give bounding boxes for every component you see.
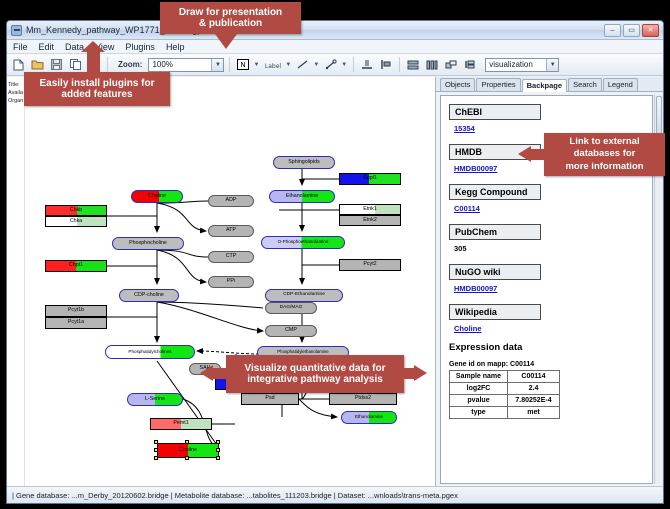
- visualization-value: visualization: [489, 60, 533, 69]
- node-label: Phosphatidylcholines: [128, 350, 171, 355]
- node-label: Sgpl1: [363, 176, 377, 181]
- chevron-down-icon[interactable]: ▼: [211, 59, 223, 71]
- callout-viz-arrow-right-head: [414, 365, 427, 381]
- node-label: Etnk1: [363, 207, 377, 212]
- visualization-combo[interactable]: visualization ▼: [485, 58, 559, 72]
- node-sgpl1[interactable]: Sgpl1: [339, 173, 401, 185]
- node-label: ATP: [226, 228, 236, 233]
- node-pcyt2[interactable]: Pcyt2: [339, 259, 401, 271]
- tab-legend[interactable]: Legend: [603, 78, 638, 91]
- maximize-button[interactable]: ▭: [623, 24, 640, 37]
- node-cdp-ethanolamine[interactable]: CDP-Ethanolamine: [265, 289, 343, 302]
- node-sphingolipids[interactable]: Sphingolipids: [273, 156, 335, 169]
- node-label: Choline: [179, 448, 197, 453]
- callout-draw-for-publication: Draw for presentation & publication: [160, 2, 301, 34]
- menu-item-file[interactable]: File: [11, 42, 30, 52]
- selection-handle-sw[interactable]: [154, 456, 158, 460]
- node-pemt1-lower[interactable]: Pemt1: [150, 418, 212, 430]
- node-phosphatidylcholines[interactable]: Phosphatidylcholines: [105, 345, 195, 359]
- node-phosphocholine[interactable]: Phosphocholine: [112, 237, 184, 250]
- tab-backpage[interactable]: Backpage: [522, 79, 567, 92]
- chevron-down-icon-line[interactable]: ▼: [313, 62, 319, 68]
- expr-key-pvalue: pvalue: [450, 395, 508, 407]
- tab-search[interactable]: Search: [568, 78, 602, 91]
- node-label: Etnk2: [363, 218, 377, 223]
- close-button[interactable]: ✕: [642, 24, 659, 37]
- tab-objects[interactable]: Objects: [440, 78, 475, 91]
- node-o-phosphoethanolamine[interactable]: O-Phosphoethanolamine: [261, 236, 345, 249]
- node-pcyt1b[interactable]: Pcyt1b: [45, 305, 107, 317]
- expr-value-type: met: [508, 407, 560, 419]
- node-ctp[interactable]: CTP: [208, 251, 254, 263]
- node-cdp-choline[interactable]: CDP-choline: [119, 289, 179, 302]
- table-row: type met: [450, 407, 560, 419]
- db-link-chebi[interactable]: 15354: [454, 124, 644, 133]
- db-link-wikipedia[interactable]: Choline: [454, 324, 644, 333]
- callout-line-1: Link to external: [569, 136, 639, 148]
- node-label: Pemt1: [173, 421, 188, 426]
- save-icon[interactable]: [48, 57, 64, 73]
- menu-item-help[interactable]: Help: [164, 42, 187, 52]
- toolbar-separator: [107, 57, 108, 72]
- callout-line-2: integrative pathway analysis: [247, 374, 383, 386]
- anchor-icon[interactable]: [323, 57, 339, 73]
- node-etnk2[interactable]: Etnk2: [339, 215, 401, 226]
- db-header-chebi: ChEBI: [449, 104, 541, 120]
- node-label: Ptdss2: [355, 396, 371, 401]
- node-label: Sphingolipids: [288, 160, 320, 165]
- datanode-icon[interactable]: N: [235, 57, 251, 73]
- db-header-nugo: NuGO wiki: [449, 264, 541, 280]
- expr-key-sample-name: Sample name: [450, 371, 508, 383]
- callout-visualize-quantitative-data: Visualize quantitative data for integrat…: [226, 355, 404, 393]
- app-icon: [11, 25, 22, 36]
- node-label: Ethanolamine: [355, 415, 383, 420]
- callout-line-3: more information: [565, 161, 643, 173]
- status-bar: | Gene database: ...m_Derby_20120602.bri…: [7, 486, 663, 503]
- callout-line-1: Easily install plugins for: [39, 78, 154, 90]
- selection-handle-se[interactable]: [216, 456, 220, 460]
- node-choline-top[interactable]: Choline: [131, 190, 183, 203]
- callout-line-2: added features: [61, 89, 132, 101]
- node-label: Phosphocholine: [129, 241, 167, 246]
- node-ethanolamine-bottom[interactable]: Ethanolamine: [341, 411, 397, 424]
- node-cmp[interactable]: CMP: [265, 325, 317, 337]
- tab-properties[interactable]: Properties: [476, 78, 520, 91]
- node-psd[interactable]: Psd: [241, 393, 299, 405]
- callout-viz-arrow-left-stem: [212, 368, 228, 379]
- table-row: pvalue 7.80252E-4: [450, 395, 560, 407]
- zoom-combo[interactable]: 100% ▼: [148, 58, 224, 72]
- window-buttons: – ▭ ✕: [604, 24, 659, 37]
- node-label: Psd: [265, 396, 274, 401]
- minimize-button[interactable]: –: [604, 24, 621, 37]
- toolbar-separator-3: [353, 57, 354, 72]
- node-ppi[interactable]: PPi: [208, 276, 254, 288]
- selection-handle-s[interactable]: [185, 456, 189, 460]
- node-chkb[interactable]: Chkb: [45, 205, 107, 216]
- db-header-kegg: Kegg Compound: [449, 184, 541, 200]
- expr-value-pvalue: 7.80252E-4: [508, 395, 560, 407]
- open-folder-icon[interactable]: [29, 57, 45, 73]
- db-link-nugo[interactable]: HMDB00097: [454, 284, 644, 293]
- callout-line-2: & publication: [199, 18, 262, 30]
- order-icon[interactable]: [462, 57, 478, 73]
- callout-line-1: Visualize quantitative data for: [245, 363, 386, 375]
- menu-item-plugins[interactable]: Plugins: [123, 42, 157, 52]
- db-link-kegg[interactable]: C00114: [454, 204, 644, 213]
- chevron-down-icon-datanode[interactable]: ▼: [253, 62, 259, 68]
- node-atp[interactable]: ATP: [208, 225, 254, 237]
- stack-icon[interactable]: [405, 57, 421, 73]
- align-bottom-icon[interactable]: [359, 57, 375, 73]
- expression-data-title: Expression data: [449, 342, 644, 353]
- node-label: Chpt1: [69, 263, 83, 268]
- copy-icon[interactable]: [67, 57, 83, 73]
- table-row: log2FC 2.4: [450, 383, 560, 395]
- db-value-pubchem: 305: [454, 244, 644, 253]
- node-l-serine-left[interactable]: L-Serine: [127, 393, 183, 406]
- toolbar-separator-4: [399, 57, 400, 72]
- callout-viz-arrow-left-head: [200, 365, 213, 381]
- node-label: ADP: [226, 198, 237, 203]
- label-icon[interactable]: Label: [263, 57, 283, 73]
- expr-value-sample-name: C00114: [508, 371, 560, 383]
- selection-handle-nw[interactable]: [154, 440, 158, 444]
- table-row: Sample name C00114: [450, 371, 560, 383]
- chevron-down-icon-label[interactable]: ▼: [285, 62, 291, 68]
- distribute-icon[interactable]: [424, 57, 440, 73]
- side-panel-tabs: Objects Properties Backpage Search Legen…: [436, 77, 663, 92]
- selection-handle-w[interactable]: [154, 448, 158, 452]
- chevron-down-icon-anchor[interactable]: ▼: [341, 62, 347, 68]
- callout-plugins-arrow-head: [81, 41, 105, 52]
- menu-item-edit[interactable]: Edit: [37, 42, 57, 52]
- node-label: Pcyt2: [363, 262, 376, 267]
- node-label: Chkb: [70, 208, 82, 213]
- node-label: O-Phosphoethanolamine: [278, 240, 329, 245]
- node-label: Pcyt1b: [68, 308, 84, 313]
- db-header-pubchem: PubChem: [449, 224, 541, 240]
- node-adp[interactable]: ADP: [208, 195, 254, 207]
- selection-handle-e[interactable]: [216, 448, 220, 452]
- node-label: L-Serine: [145, 397, 165, 402]
- menu-bar: File Edit Data View Plugins Help: [7, 40, 663, 54]
- node-label: CMP: [285, 328, 297, 333]
- expr-key-type: type: [450, 407, 508, 419]
- toolbar-separator-2: [229, 57, 230, 72]
- node-etnk1[interactable]: Etnk1: [339, 204, 401, 215]
- chevron-down-icon-viz[interactable]: ▼: [546, 59, 558, 71]
- node-label: Chka: [70, 219, 82, 224]
- expr-key-log2fc: log2FC: [450, 383, 508, 395]
- status-bar-text: | Gene database: ...m_Derby_20120602.bri…: [12, 491, 458, 500]
- node-label: CTP: [226, 254, 237, 259]
- svg-text:N: N: [241, 61, 246, 69]
- expr-value-log2fc: 2.4: [508, 383, 560, 395]
- node-ptdss2[interactable]: Ptdss2: [329, 393, 397, 405]
- callout-databases-arrow-stem: [530, 149, 546, 160]
- zoom-label: Zoom:: [118, 60, 142, 69]
- callout-databases-arrow-head: [518, 146, 531, 162]
- line-icon[interactable]: [295, 57, 311, 73]
- new-file-icon[interactable]: [10, 57, 26, 73]
- callout-line-1: Draw for presentation: [179, 7, 282, 19]
- selection-handle-ne[interactable]: [216, 440, 220, 444]
- callout-external-databases: Link to external databases for more info…: [544, 133, 665, 176]
- group-icon[interactable]: [443, 57, 459, 73]
- node-chka[interactable]: Chka: [45, 216, 107, 227]
- title-bar: Mm_Kennedy_pathway_WP1771_45176.gpml – ▭…: [7, 21, 663, 40]
- expression-table: Sample name C00114 log2FC 2.4 pvalue 7.8…: [449, 370, 560, 419]
- callout-draw-arrow: [215, 34, 237, 49]
- callout-line-2: databases for: [574, 148, 636, 160]
- node-pcyt1a[interactable]: Pcyt1a: [45, 317, 107, 329]
- node-label: Pcyt1a: [68, 320, 84, 325]
- selection-handle-n[interactable]: [185, 440, 189, 444]
- db-header-wikipedia: Wikipedia: [449, 304, 541, 320]
- node-label: CDP-choline: [134, 293, 164, 298]
- svg-text:Label: Label: [265, 63, 282, 69]
- node-label: Ethanolamine: [286, 194, 318, 199]
- node-label: Choline: [148, 194, 166, 199]
- zoom-value: 100%: [152, 60, 172, 69]
- node-label: CDP-Ethanolamine: [283, 293, 325, 298]
- node-chpt1[interactable]: Chpt1: [45, 260, 107, 272]
- node-label: PPi: [227, 279, 235, 284]
- gene-id-on-mapp: Gene id on mapp: C00114: [449, 361, 644, 368]
- node-dagmag[interactable]: DAG/MAG: [265, 302, 317, 314]
- pathway-canvas[interactable]: Title: Availa Organ: [7, 77, 436, 486]
- align-left-icon[interactable]: [378, 57, 394, 73]
- callout-install-plugins: Easily install plugins for added feature…: [24, 72, 170, 106]
- node-label: DAG/MAG: [280, 306, 303, 311]
- node-ethanolamine-top[interactable]: Ethanolamine: [269, 190, 335, 203]
